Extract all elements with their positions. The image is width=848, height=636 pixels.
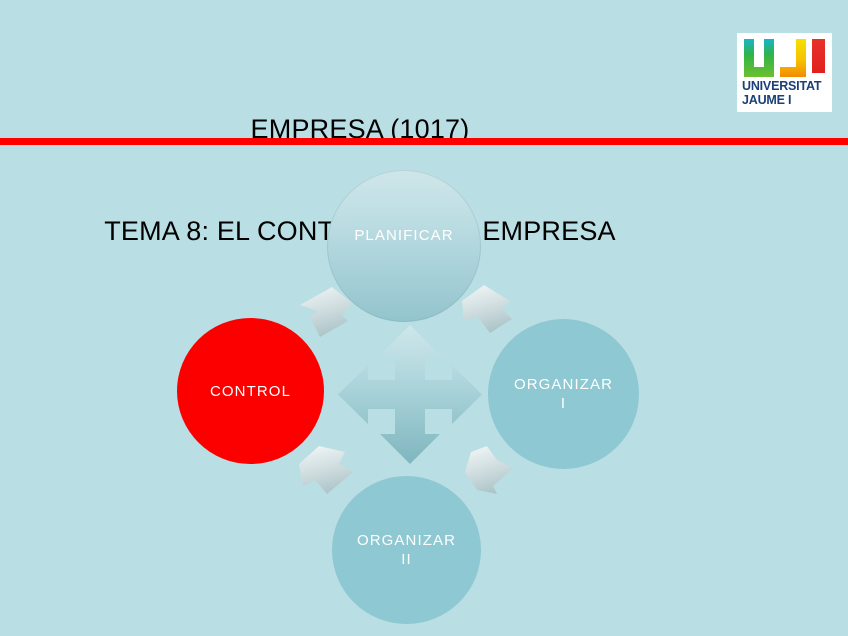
- title-divider-rule: [0, 138, 848, 145]
- uji-wordmark: UNIVERSITAT JAUME I: [742, 80, 827, 107]
- node-planificar[interactable]: PLANIFICAR: [327, 170, 481, 322]
- node-organizar-i[interactable]: ORGANIZAR I: [488, 319, 639, 469]
- chevron-arrow-icon-top-right: [458, 281, 518, 343]
- slide-canvas: EMPRESA (1017) TEMA 8: EL CONTROL EN LA …: [0, 0, 848, 636]
- uji-word-line-2: JAUME I: [742, 94, 827, 108]
- chevron-arrow-icon-bottom-right: [457, 442, 517, 504]
- uji-logo-mark: [742, 37, 827, 79]
- node-organizar-ii[interactable]: ORGANIZAR II: [332, 476, 481, 624]
- uji-word-line-1: UNIVERSITAT: [742, 80, 827, 94]
- chevron-arrow-icon-bottom-left: [297, 442, 357, 504]
- uji-logo: UNIVERSITAT JAUME I: [737, 33, 832, 112]
- node-control[interactable]: CONTROL: [177, 318, 324, 464]
- uji-letters-icon: [742, 37, 827, 79]
